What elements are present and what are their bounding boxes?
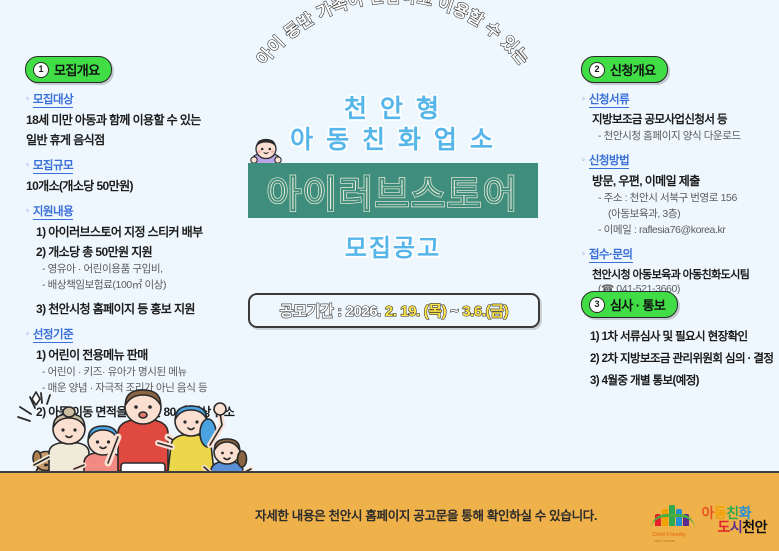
logo-line-1: 아동친화 bbox=[701, 506, 767, 520]
logo-en-subtext: with Cheonan bbox=[654, 539, 675, 543]
subheading-recruit-scale: ◦ 모집규모 bbox=[26, 157, 296, 174]
text-subline: (아동보육과, 3층) bbox=[608, 206, 777, 221]
subheading-label: 지원내용 bbox=[33, 203, 73, 220]
text-subline: - 천안시청 홈페이지 양식 다운로드 bbox=[598, 128, 777, 143]
text-line: 1) 1차 서류심사 및 필요시 현장확인 bbox=[590, 328, 779, 344]
subheading-label: 모집대상 bbox=[33, 91, 73, 108]
bullet-icon: ◦ bbox=[26, 95, 29, 103]
subheading-label: 신청방법 bbox=[589, 152, 629, 169]
subheading-selection-criteria: ◦ 선정기준 bbox=[26, 326, 296, 343]
logo-en-text: Child Friendly bbox=[652, 532, 685, 538]
badge-number-3: 3 bbox=[589, 297, 605, 313]
text-subline: - 어린이 · 키즈· 유아가 명시된 메뉴 bbox=[42, 364, 296, 379]
logo-korean-text: 아동친화 도시천안 bbox=[701, 506, 767, 534]
text-line: 1) 아이러브스토어 지정 스티커 배부 bbox=[36, 223, 296, 240]
subheading-label: 선정기준 bbox=[33, 326, 73, 343]
subheading-recruit-target: ◦ 모집대상 bbox=[26, 91, 296, 108]
section-badge-review-notification[interactable]: 3 심사 · 통보 bbox=[581, 291, 678, 318]
text-line: 18세 미만 아동과 함께 이용할 수 있는 bbox=[26, 111, 296, 128]
text-line: 지방보조금 공모사업신청서 등 bbox=[592, 111, 777, 127]
text-line: 3) 천안시청 홈페이지 등 홍보 지원 bbox=[36, 300, 296, 317]
subheading-application-method: ◦ 신청방법 bbox=[582, 152, 777, 169]
bullet-icon: ◦ bbox=[582, 156, 585, 164]
application-period-text: 공모기간 : 2026. 2. 19. (목) ~ 3.6.(금) bbox=[280, 300, 508, 321]
subheading-application-documents: ◦ 신청서류 bbox=[582, 91, 777, 108]
text-subline: - 주소 : 천안시 서북구 번영로 156 bbox=[598, 190, 777, 205]
subheading-contact: ◦ 접수·문의 bbox=[582, 246, 777, 263]
section-3-body: 1) 1차 서류심사 및 필요시 현장확인 2) 2차 지방보조금 관리위원회 … bbox=[590, 322, 779, 388]
text-line: 3) 4월중 개별 통보(예정) bbox=[590, 372, 779, 388]
logo-line-2: 도시천안 bbox=[717, 520, 767, 534]
text-subline: - 영유아 · 어린이용품 구입비, bbox=[42, 261, 296, 276]
badge-label-3: 심사 · 통보 bbox=[610, 295, 665, 314]
subheading-label: 신청서류 bbox=[589, 91, 629, 108]
text-subline: - 배상책임보험료(100㎡ 이상) bbox=[42, 277, 296, 292]
arc-tagline-text: 아이 동반 가족이 안심하고 이용할 수 있는 bbox=[253, 0, 533, 69]
period-end: 3.6.(금) bbox=[462, 303, 508, 320]
section-1-body: ◦ 모집대상 18세 미만 아동과 함께 이용할 수 있는 일반 휴게 음식점 … bbox=[26, 82, 296, 420]
subheading-label: 접수·문의 bbox=[589, 246, 633, 263]
footer-note: 자세한 내용은 천안시 홈페이지 공고문을 통해 확인하실 수 있습니다. bbox=[255, 505, 597, 524]
bullet-icon: ◦ bbox=[582, 250, 585, 258]
text-line: 2) 개소당 총 50만원 지원 bbox=[36, 243, 296, 260]
badge-number-1: 1 bbox=[33, 62, 49, 78]
period-start: 2. 19. (목) bbox=[385, 303, 447, 320]
svg-text:아이 동반 가족이 안심하고 이용할 수 있는: 아이 동반 가족이 안심하고 이용할 수 있는 bbox=[253, 0, 533, 69]
bullet-icon: ◦ bbox=[26, 207, 29, 215]
text-line: 방문, 우편, 이메일 제출 bbox=[592, 172, 777, 189]
child-friendly-emblem-icon: Child Friendly with Cheonan bbox=[649, 503, 697, 537]
period-tilde: ~ bbox=[446, 303, 462, 320]
poster-root: 아이 동반 가족이 안심하고 이용할 수 있는 천 안 형 아 동 친 화 업 … bbox=[0, 0, 779, 551]
section-2-body: ◦ 신청서류 지방보조금 공모사업신청서 등 - 천안시청 홈페이지 양식 다운… bbox=[582, 82, 777, 295]
text-line: 천안시청 아동보육과 아동친화도시팀 bbox=[592, 266, 777, 282]
text-line: 10개소(개소당 50만원) bbox=[26, 177, 296, 194]
subheading-label: 모집규모 bbox=[33, 157, 73, 174]
bullet-icon: ◦ bbox=[582, 95, 585, 103]
period-sep: : 2026. bbox=[333, 303, 384, 320]
badge-number-2: 2 bbox=[589, 62, 605, 78]
text-line: 일반 휴게 음식점 bbox=[26, 131, 296, 148]
section-badge-recruitment-overview[interactable]: 1 모집개요 bbox=[25, 56, 112, 83]
text-line: 1) 어린이 전용메뉴 판매 bbox=[36, 346, 296, 363]
bullet-icon: ◦ bbox=[26, 330, 29, 338]
badge-label-2: 신청개요 bbox=[610, 60, 655, 79]
text-line: 2) 2차 지방보조금 관리위원회 심의 · 결정 bbox=[590, 350, 779, 366]
badge-label-1: 모집개요 bbox=[54, 60, 99, 79]
section-badge-application-overview[interactable]: 2 신청개요 bbox=[581, 56, 668, 83]
subheading-support-content: ◦ 지원내용 bbox=[26, 203, 296, 220]
child-friendly-city-logo: Child Friendly with Cheonan 아동친화 도시천안 bbox=[649, 503, 767, 537]
bullet-icon: ◦ bbox=[26, 161, 29, 169]
text-subline: - 이메일 : raflesia76@korea.kr bbox=[598, 222, 777, 237]
